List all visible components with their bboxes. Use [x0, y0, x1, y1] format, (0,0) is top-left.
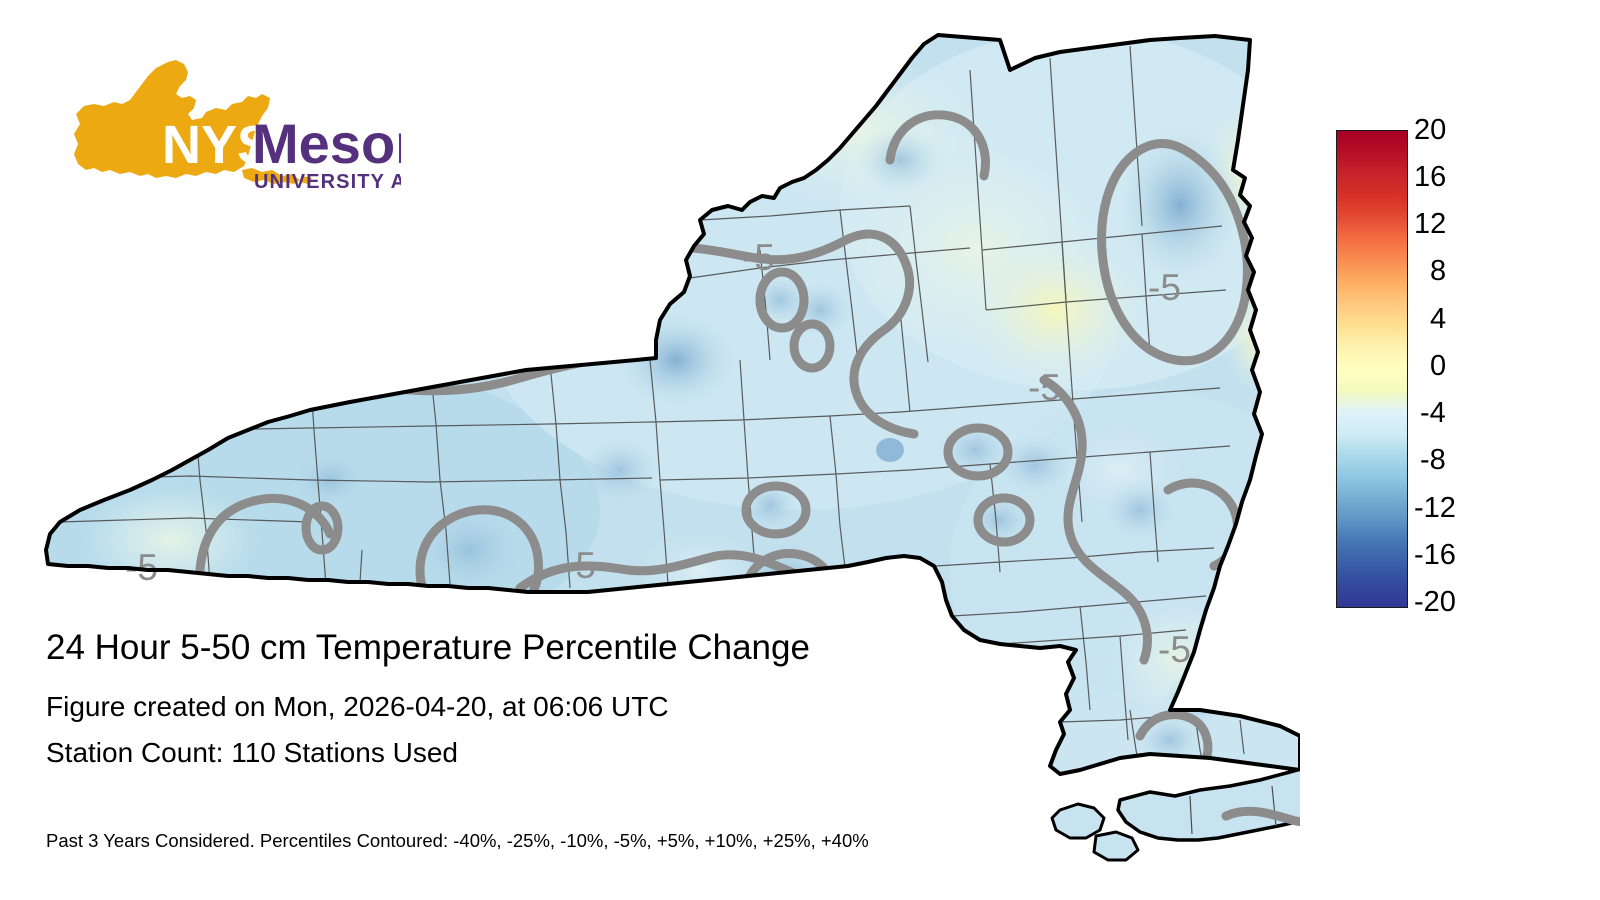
contour-label: -5 [742, 237, 775, 278]
page-title: 24 Hour 5-50 cm Temperature Percentile C… [46, 626, 1006, 670]
colorbar-tick: -8 [1420, 446, 1446, 475]
colorbar-tick: 4 [1430, 305, 1446, 334]
colorbar-tick-labels: 20 16 12 8 4 0 -4 -8 -12 -16 -20 [1414, 130, 1510, 608]
colorbar-tick: 12 [1414, 210, 1446, 239]
colorbar-tick: 0 [1430, 352, 1446, 381]
colorbar-tick: -16 [1414, 541, 1456, 570]
colorbar-gradient [1336, 130, 1408, 608]
contour-label: -5 [563, 545, 596, 586]
colorbar-tick: -12 [1414, 494, 1456, 523]
figure-canvas: NYS Mesonet UNIVERSITY AT ALBANY [0, 0, 1600, 900]
colorbar-tick: -4 [1420, 399, 1446, 428]
colorbar-tick: 20 [1414, 116, 1446, 145]
colorbar-tick: 16 [1414, 163, 1446, 192]
figure-created-timestamp: Figure created on Mon, 2026-04-20, at 06… [46, 684, 1006, 730]
contour-footnote: Past 3 Years Considered. Percentiles Con… [46, 830, 869, 852]
contour-label: -5 [1148, 267, 1181, 308]
figure-title-block: 24 Hour 5-50 cm Temperature Percentile C… [46, 626, 1006, 776]
contour-label: -5 [1028, 367, 1061, 408]
colorbar-tick: 8 [1430, 257, 1446, 286]
colorbar-tick: -20 [1414, 588, 1456, 617]
station-count-label: Station Count: 110 Stations Used [46, 730, 1006, 776]
contour-label: -5 [1158, 629, 1191, 670]
temperature-percentile-colorbar: 20 16 12 8 4 0 -4 -8 -12 -16 -20 [1336, 130, 1408, 608]
